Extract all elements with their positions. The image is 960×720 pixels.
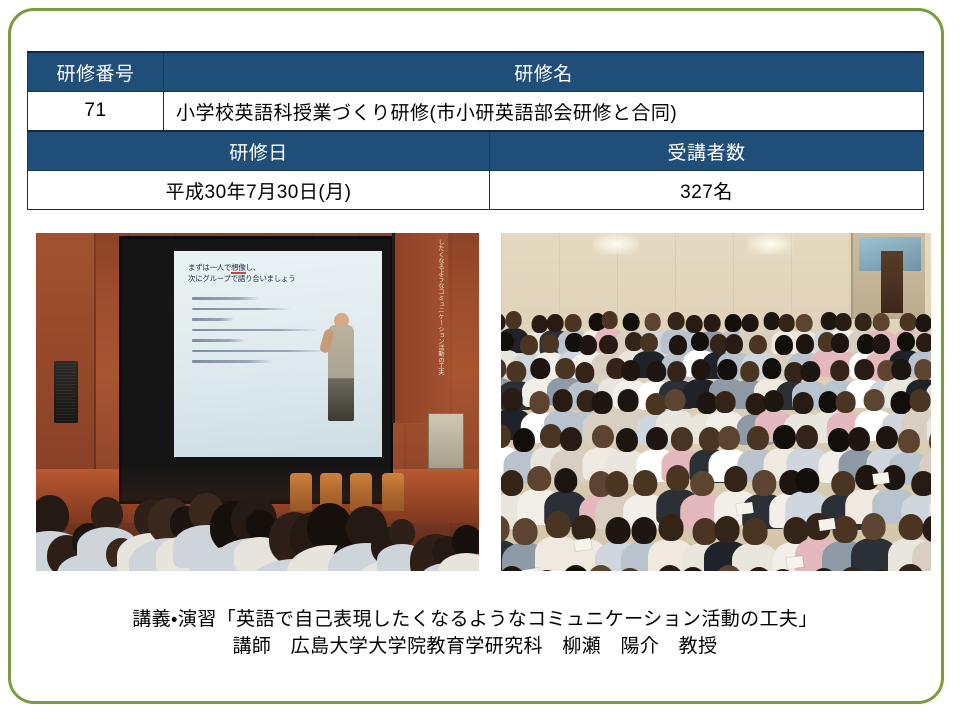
audience-head: [513, 428, 535, 452]
audience-head: [900, 313, 917, 331]
audience-person: [861, 513, 886, 571]
header-attendee-count: 受講者数: [490, 131, 924, 171]
audience-person: [716, 565, 742, 571]
handout-paper: [872, 472, 889, 485]
audience-person: [923, 515, 931, 571]
audience-crowd: [501, 307, 931, 571]
audience-head: [513, 518, 538, 545]
audience-head: [575, 362, 594, 383]
audience-head: [749, 335, 767, 355]
audience-person: [680, 567, 706, 571]
audience-head: [686, 315, 703, 333]
table-row-values-1: 71 小学校英語科授業づくり研修(市小研英語部会研修と合同): [28, 92, 924, 132]
audience-head: [531, 358, 550, 379]
audience-head: [507, 361, 526, 382]
audience-head: [644, 313, 661, 331]
audience-head: [740, 361, 759, 382]
header-training-name: 研修名: [164, 52, 924, 92]
audience-head: [916, 333, 931, 353]
audience-head: [743, 518, 768, 545]
caption-line-2: 講師 広島大学大学院教育学研究科 柳瀬 陽介 教授: [27, 634, 923, 661]
audience-head: [770, 569, 796, 571]
audience-head: [556, 358, 575, 379]
audience-head: [621, 360, 640, 381]
audience-head: [793, 392, 814, 414]
training-info-table: 研修番号 研修名 71 小学校英語科授業づくり研修(市小研英語部会研修と合同) …: [27, 51, 924, 210]
audience-head: [693, 518, 718, 545]
audience-head: [867, 570, 893, 571]
audience-head: [667, 361, 686, 382]
audience-head: [830, 360, 849, 381]
header-training-date: 研修日: [28, 131, 490, 171]
audience-head: [592, 391, 613, 413]
audience-head: [911, 471, 931, 496]
audience-head: [704, 314, 721, 332]
audience-head: [775, 335, 793, 355]
audience-person: [617, 568, 643, 571]
audience-head: [795, 468, 819, 493]
audience-head: [646, 361, 665, 382]
audience-head: [864, 389, 885, 411]
audience-head: [909, 389, 930, 411]
audience-head: [554, 468, 578, 493]
audience-head: [847, 427, 869, 451]
audience-head: [640, 333, 658, 353]
audience-head: [872, 334, 890, 354]
handout-paper: [818, 518, 835, 531]
audience-head: [631, 517, 656, 544]
audience-head: [716, 565, 742, 571]
audience-head: [800, 361, 819, 382]
handout-paper: [574, 538, 591, 551]
handout-paper: [786, 556, 803, 569]
audience-head: [876, 426, 898, 450]
audience-head: [855, 313, 872, 331]
audience-person: [746, 567, 772, 571]
audience-head: [588, 565, 614, 571]
audience-head: [531, 315, 548, 333]
audience-head: [929, 429, 931, 453]
audience-head: [91, 497, 123, 531]
audience-head: [897, 332, 915, 352]
audience-head: [601, 311, 618, 329]
audience-head: [892, 359, 911, 380]
loudspeaker: [54, 361, 78, 423]
audience-head: [873, 313, 890, 331]
audience-head: [528, 466, 552, 491]
audience-head: [680, 567, 706, 571]
audience-head: [541, 334, 559, 354]
audience-head: [520, 335, 538, 355]
header-training-number: 研修番号: [28, 52, 164, 92]
audience-head: [717, 359, 736, 380]
slide-title-line2: 次にグループで語り合いましょう: [188, 274, 295, 283]
audience-head: [831, 333, 849, 353]
audience-head: [633, 470, 657, 495]
audience-head: [591, 425, 613, 449]
audience-head: [665, 389, 686, 411]
audience-person: [588, 565, 614, 571]
photo-lecture-scene: まずは一人で想像し、 次にグループで語り合いましょう したくなるようなコミュニケ…: [36, 233, 479, 571]
audience-head: [690, 471, 714, 496]
audience-head: [725, 314, 742, 332]
audience-head: [501, 515, 510, 542]
audience-head: [724, 466, 748, 491]
audience-head: [890, 391, 911, 413]
caption-line-1: 講義・演習「英語で自己表現したくなるようなコミュニケーション活動の工夫」: [27, 607, 923, 634]
audience-head: [546, 511, 571, 538]
audience-head: [389, 519, 415, 546]
audience-head: [796, 425, 818, 449]
audience-head: [839, 567, 865, 571]
audience-head: [505, 311, 522, 329]
audience-head: [835, 391, 856, 413]
audience-head: [832, 516, 857, 543]
slide-title-part2: し、: [246, 263, 260, 272]
audience-head: [898, 429, 920, 453]
audience-head: [796, 314, 813, 332]
audience-head: [615, 428, 637, 452]
audience-head: [861, 513, 886, 540]
audience-head: [646, 427, 668, 451]
audience-head: [502, 388, 523, 410]
value-training-name: 小学校英語科授業づくり研修(市小研英語部会研修と合同): [164, 92, 924, 132]
audience-head: [669, 335, 687, 355]
caption: 講義・演習「英語で自己表現したくなるようなコミュニケーション活動の工夫」 講師 …: [27, 607, 923, 661]
audience-head: [666, 465, 690, 490]
audience-person: [513, 518, 538, 571]
vertical-banner: したくなるようなコミュニケーション活動の工夫: [392, 233, 448, 423]
ceiling-light: [593, 233, 639, 255]
audience-head: [540, 424, 562, 448]
audience-head: [897, 564, 923, 571]
value-training-number: 71: [28, 92, 164, 132]
audience-head: [835, 313, 852, 331]
audience-head: [742, 314, 759, 332]
audience-person: [743, 518, 768, 571]
audience-head: [659, 514, 684, 541]
audience-head: [579, 335, 597, 355]
audience-head: [571, 515, 596, 542]
audience-head: [796, 334, 814, 354]
podium: [428, 413, 464, 469]
audience-head: [529, 391, 550, 413]
ceiling-light: [747, 233, 793, 255]
audience-head: [718, 426, 740, 450]
audience-head: [811, 568, 837, 571]
wall-panel: [36, 233, 96, 481]
audience-person: [811, 568, 837, 571]
audience-head: [747, 426, 769, 450]
audience-foreground-left: [36, 463, 479, 571]
audience-head: [618, 389, 639, 411]
audience-head: [752, 470, 776, 495]
audience-head: [762, 358, 781, 379]
audience-head: [565, 314, 582, 332]
audience-head: [691, 332, 709, 352]
audience-head: [715, 516, 740, 543]
handout-paper: [736, 502, 753, 515]
audience-head: [560, 427, 582, 451]
table-row-header-2: 研修日 受講者数: [28, 131, 924, 171]
audience-head: [547, 314, 564, 332]
audience-person: [839, 567, 865, 571]
audience-head: [763, 390, 784, 412]
audience-head: [671, 427, 693, 451]
audience-head: [691, 359, 710, 380]
audience-head: [605, 471, 629, 496]
audience-person: [897, 564, 923, 571]
audience-head: [552, 389, 573, 411]
slide-title-part1: まずは一人で: [188, 263, 231, 272]
wall-cabinet: [881, 251, 903, 313]
audience-person: [657, 565, 683, 571]
audience-person: [562, 565, 588, 571]
audience-head: [562, 565, 588, 571]
audience-head: [501, 424, 511, 448]
audience-head: [668, 312, 685, 330]
audience-head: [623, 313, 640, 331]
value-attendee-count: 327名: [490, 171, 924, 210]
audience-head: [501, 332, 514, 352]
slide-frame: 研修番号 研修名 71 小学校英語科授業づくり研修(市小研英語部会研修と合同) …: [8, 8, 944, 704]
value-training-date: 平成30年7月30日(月): [28, 171, 490, 210]
photo-row: まずは一人で想像し、 次にグループで語り合いましょう したくなるようなコミュニケ…: [36, 233, 931, 571]
slide-title-highlight: 想像: [231, 263, 245, 274]
audience-head: [657, 565, 683, 571]
photo-audience-scene: [501, 233, 931, 571]
slide-title-text: まずは一人で想像し、 次にグループで語り合いましょう: [188, 263, 374, 284]
audience-head: [914, 359, 931, 380]
audience-head: [923, 515, 931, 542]
audience-head: [855, 359, 874, 380]
audience-head: [715, 391, 736, 413]
table-row-header-1: 研修番号 研修名: [28, 52, 924, 92]
audience-head: [899, 514, 924, 541]
audience-head: [746, 567, 772, 571]
audience-head: [773, 425, 795, 449]
audience-head: [617, 568, 643, 571]
audience-person: [867, 570, 893, 571]
audience-head: [599, 335, 617, 355]
audience-head: [915, 314, 931, 332]
audience-person: [659, 514, 684, 571]
audience-head: [725, 334, 743, 354]
audience-head: [36, 495, 69, 536]
audience-head: [605, 517, 630, 544]
audience-head: [778, 314, 795, 332]
table-row-values-2: 平成30年7月30日(月) 327名: [28, 171, 924, 210]
audience-head: [501, 470, 524, 495]
audience-person: [770, 569, 796, 571]
